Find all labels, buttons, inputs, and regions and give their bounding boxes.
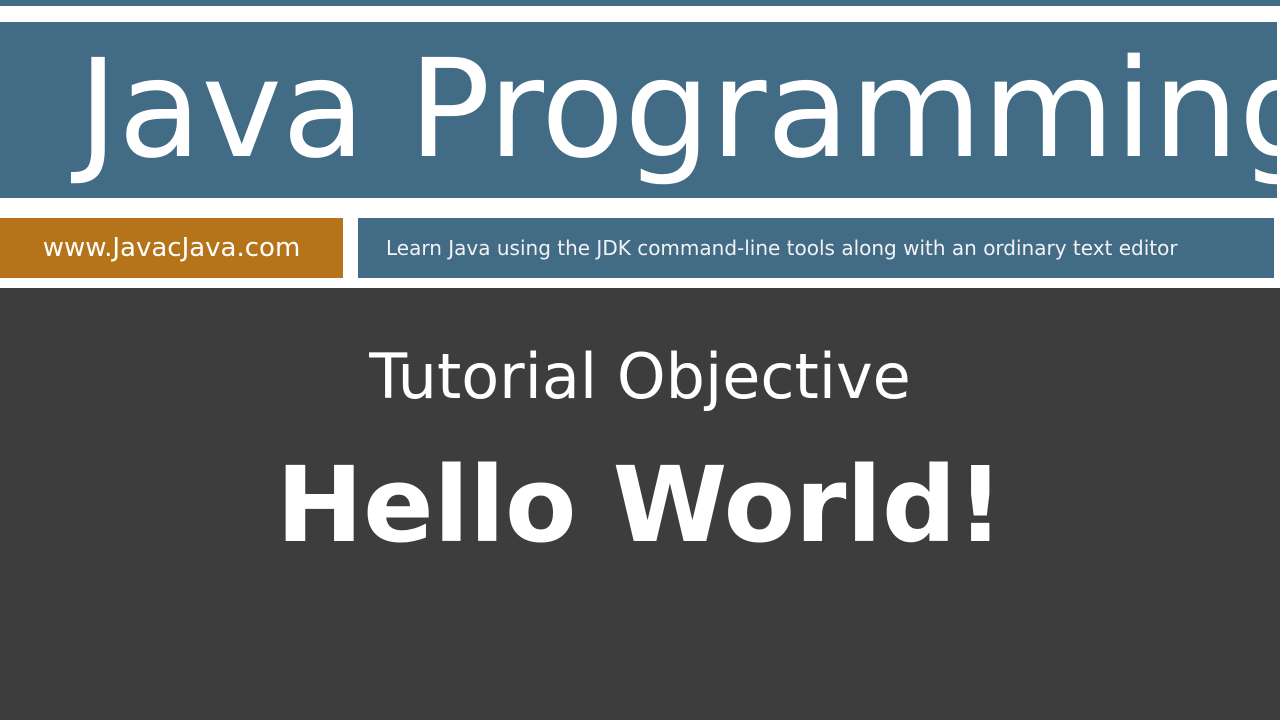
- title-bar: Java Programming: [0, 22, 1277, 198]
- tutorial-objective-title: Hello World!: [0, 453, 1280, 557]
- website-badge[interactable]: www.JavacJava.com: [0, 218, 343, 278]
- page-title: Java Programming: [78, 42, 1277, 178]
- content-stage: Tutorial Objective Hello World!: [0, 288, 1280, 720]
- subtitle-label: Learn Java using the JDK command-line to…: [386, 238, 1178, 258]
- tutorial-objective-label: Tutorial Objective: [0, 346, 1280, 408]
- website-badge-label: www.JavacJava.com: [43, 235, 301, 261]
- info-row: www.JavacJava.com Learn Java using the J…: [0, 218, 1280, 278]
- slide-canvas: Java Programming www.JavacJava.com Learn…: [0, 0, 1280, 720]
- subtitle-bar: Learn Java using the JDK command-line to…: [358, 218, 1274, 278]
- top-accent-strip: [0, 0, 1280, 6]
